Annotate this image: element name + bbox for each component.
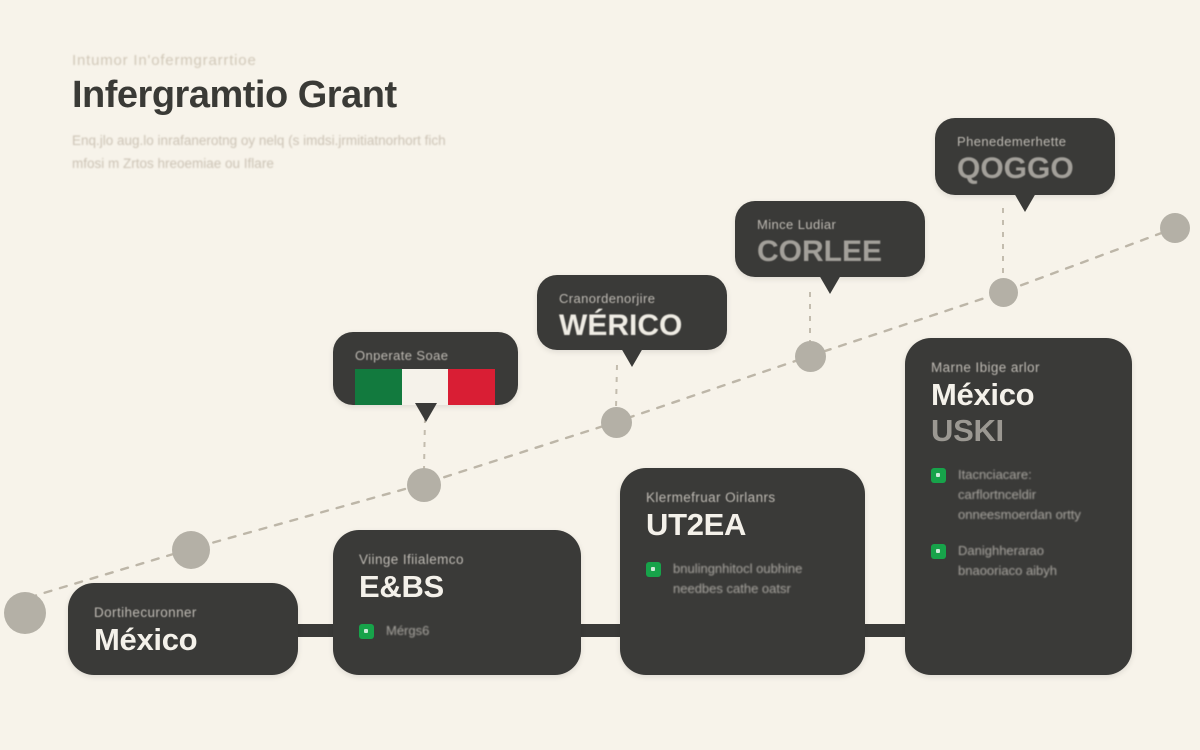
step-card-1[interactable]: Dortihecuronner México bbox=[68, 583, 298, 675]
bullet-text: bnulingnhitocl oubhine needbes cathe oat… bbox=[673, 559, 813, 599]
bullet-square-icon bbox=[646, 562, 661, 577]
trend-marker bbox=[601, 407, 632, 438]
header-eyebrow: Intumor In'ofermgrarrtioe bbox=[72, 52, 592, 69]
step-card-label: Klermefruar Oirlanrs bbox=[646, 490, 839, 505]
step-card-2[interactable]: Viinge Ifiialemco E&BS Mérgs6 bbox=[333, 530, 581, 675]
callout-bubble-1[interactable]: Onperate Soae bbox=[333, 332, 518, 405]
flag-stripe-red bbox=[448, 369, 495, 405]
infographic-canvas: Intumor In'ofermgrarrtioe Infergramtio G… bbox=[0, 0, 1200, 750]
step-card-label: Viinge Ifiialemco bbox=[359, 552, 555, 567]
step-card-4[interactable]: Marne Ibige arlor México USKI Itacnciaca… bbox=[905, 338, 1132, 675]
page-title: Infergramtio Grant bbox=[72, 75, 592, 117]
callout-bubble-4[interactable]: Phenedemerhette QOGGO bbox=[935, 118, 1115, 195]
trend-marker bbox=[4, 592, 46, 634]
step-card-3[interactable]: Klermefruar Oirlanrs UT2EA bnulingnhitoc… bbox=[620, 468, 865, 675]
step-card-title: E&BS bbox=[359, 569, 555, 605]
bullet-item: Danighherarao bnaooriaco aibyh bbox=[931, 541, 1106, 581]
bullet-square-icon bbox=[359, 624, 374, 639]
step-card-title: México bbox=[931, 377, 1106, 413]
bullet-square-icon bbox=[931, 468, 946, 483]
bullet-square-icon bbox=[931, 544, 946, 559]
step-card-subtitle: USKI bbox=[931, 413, 1106, 449]
callout-bubble-3[interactable]: Mince Ludiar CORLEE bbox=[735, 201, 925, 277]
callout-title: QOGGO bbox=[957, 152, 1093, 186]
trend-marker bbox=[989, 278, 1018, 307]
step-card-label: Dortihecuronner bbox=[94, 605, 272, 620]
step-card-label: Marne Ibige arlor bbox=[931, 360, 1106, 375]
flag-icon bbox=[355, 369, 495, 405]
bullet-text: Itacnciacare: carflortnceldir onneesmoer… bbox=[958, 465, 1106, 525]
header: Intumor In'ofermgrarrtioe Infergramtio G… bbox=[72, 52, 592, 176]
callout-bubble-2[interactable]: Cranordenorjire WÉRICO bbox=[537, 275, 727, 350]
trend-marker bbox=[795, 341, 826, 372]
trend-marker bbox=[407, 468, 441, 502]
bullet-text: Danighherarao bnaooriaco aibyh bbox=[958, 541, 1106, 581]
flag-stripe-green bbox=[355, 369, 402, 405]
header-subtitle-line-1: Enq.jlo aug.lo inrafanerotng oy nelq (s … bbox=[72, 129, 472, 153]
callout-label: Cranordenorjire bbox=[559, 291, 705, 306]
callout-label: Onperate Soae bbox=[355, 348, 496, 363]
step-card-bullets: Mérgs6 bbox=[359, 621, 555, 641]
step-card-title: México bbox=[94, 622, 272, 658]
bullet-text: Mérgs6 bbox=[386, 621, 429, 641]
callout-label: Phenedemerhette bbox=[957, 134, 1093, 149]
step-card-bullets: bnulingnhitocl oubhine needbes cathe oat… bbox=[646, 559, 839, 599]
callout-label: Mince Ludiar bbox=[757, 217, 903, 232]
header-subtitle: Enq.jlo aug.lo inrafanerotng oy nelq (s … bbox=[72, 129, 472, 176]
bullet-item: bnulingnhitocl oubhine needbes cathe oat… bbox=[646, 559, 839, 599]
trend-marker bbox=[172, 531, 210, 569]
trend-marker bbox=[1160, 213, 1190, 243]
header-subtitle-line-2: mfosi m Zrtos hreoemiae ou Iflare bbox=[72, 152, 472, 176]
step-card-title: UT2EA bbox=[646, 507, 839, 543]
flag-stripe-white bbox=[402, 369, 449, 405]
step-card-bullets: Itacnciacare: carflortnceldir onneesmoer… bbox=[931, 465, 1106, 582]
bullet-item: Itacnciacare: carflortnceldir onneesmoer… bbox=[931, 465, 1106, 525]
callout-title: CORLEE bbox=[757, 235, 903, 269]
callout-title: WÉRICO bbox=[559, 309, 705, 343]
bullet-item: Mérgs6 bbox=[359, 621, 555, 641]
